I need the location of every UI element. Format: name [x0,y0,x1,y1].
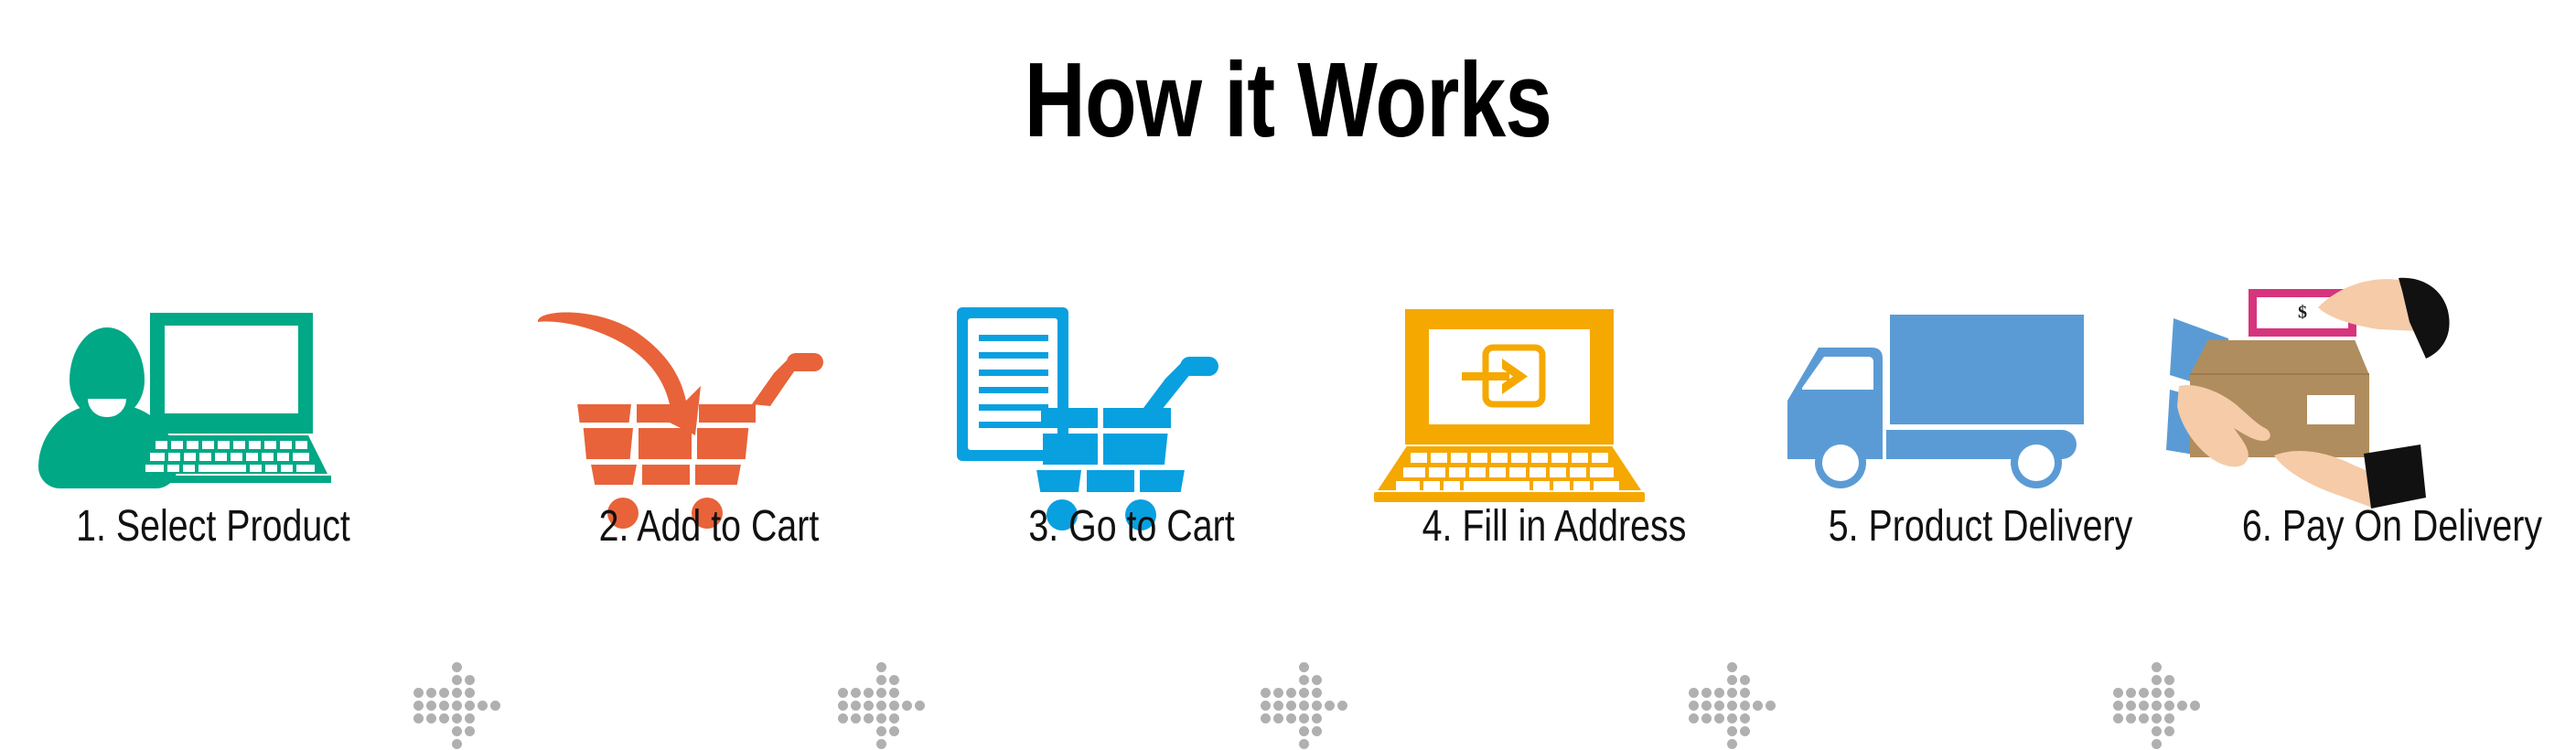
laptop-base-edge [132,476,331,483]
separator-dot [413,688,424,698]
separator-dot [1740,713,1750,723]
separator-dot [452,701,462,711]
step-separator-2-3 [838,662,926,750]
separator-dot [889,701,899,711]
separator-dot [2164,688,2174,698]
separator-dot [851,688,861,698]
steps-row: 1. Select Product [0,302,2576,686]
separator-dot [1701,701,1712,711]
separator-dot [876,726,886,736]
separator-dot [1299,662,1309,672]
separator-dot [1261,713,1271,723]
separator-dot [876,688,886,698]
separator-dot [465,726,475,736]
login-arrow-into-box-icon [1454,340,1564,413]
step-separator-3-4 [1261,662,1348,750]
separator-dot [1312,675,1322,685]
separator-dot [413,713,424,723]
separator-dot [2126,701,2136,711]
separator-dot [1689,688,1699,698]
delivery-truck-icon [1784,302,2177,476]
separator-dot [876,675,886,685]
separator-dot [1701,713,1712,723]
separator-dot [2164,675,2174,685]
separator-dot [1740,701,1750,711]
laptop-login-icon [1358,302,1751,476]
separator-dot [1714,701,1724,711]
separator-dot [1286,701,1296,711]
separator-dot [452,675,462,685]
step-4-fill-in-address[interactable]: 4. Fill in Address [1358,302,1751,686]
separator-dot [889,726,899,736]
separator-dot [2164,726,2174,736]
separator-dot [1714,688,1724,698]
separator-dot [1740,726,1750,736]
separator-dot [2113,713,2123,723]
step-3-label: 3. Go to Cart [971,501,1293,552]
separator-dot [902,701,912,711]
separator-dot [2113,688,2123,698]
separator-dot [1325,701,1335,711]
step-2-add-to-cart[interactable]: 2. Add to Cart [512,302,906,686]
step-4-label: 4. Fill in Address [1393,501,1716,552]
separator-dot [1727,701,1737,711]
separator-dot [876,701,886,711]
separator-dot [851,701,861,711]
separator-dot [1727,713,1737,723]
truck-cargo-box [1890,315,2084,424]
truck-tire-rear-hub [2018,445,2055,481]
separator-dot [1689,713,1699,723]
separator-dot [2126,688,2136,698]
step-1-select-product[interactable]: 1. Select Product [16,302,410,686]
separator-dot [1299,688,1309,698]
laptop-key-row-2 [1403,467,1617,477]
separator-dot [838,688,848,698]
separator-dot [452,713,462,723]
separator-dot [1312,713,1322,723]
truck-tire-front-hub [1822,445,1859,481]
separator-dot [439,701,449,711]
separator-dot [1740,688,1750,698]
separator-dot [1714,713,1724,723]
infographic-canvas: How it Works [0,0,2576,745]
step-separator-4-5 [1689,662,1776,750]
separator-dot [452,662,462,672]
separator-dot [864,701,874,711]
laptop-key-row-1 [156,441,309,449]
separator-dot [439,713,449,723]
separator-dot [876,662,886,672]
separator-dot [426,688,436,698]
separator-dot [838,713,848,723]
separator-dot [864,688,874,698]
separator-dot [889,713,899,723]
separator-dot [876,713,886,723]
separator-dot [2177,701,2187,711]
separator-dot [2152,688,2162,698]
separator-dot [465,675,475,685]
separator-dot [1753,701,1763,711]
separator-dot [2139,701,2149,711]
separator-dot [2164,701,2174,711]
arrow-into-cart-icon [512,302,906,476]
separator-dot [439,688,449,698]
separator-dot [2152,662,2162,672]
laptop-key-row-3 [1396,481,1623,490]
separator-dot [1299,713,1309,723]
step-6-label: 6. Pay On Delivery [2231,501,2554,552]
separator-dot [2152,701,2162,711]
step-separator-5-6 [2113,662,2201,750]
separator-dot [2113,701,2123,711]
separator-dot [1286,713,1296,723]
separator-dot [1273,713,1283,723]
separator-dot [490,701,500,711]
separator-dot [413,701,424,711]
cart-basket [1037,408,1193,479]
separator-dot [1273,688,1283,698]
laptop-key-row-2 [150,453,315,461]
separator-dot [1727,675,1737,685]
separator-dot [1261,701,1271,711]
laptop-screen-display [165,326,298,413]
step-1-label: 1. Select Product [52,501,375,552]
separator-dot [1299,675,1309,685]
step-2-label: 2. Add to Cart [548,501,871,552]
separator-dot [478,701,488,711]
page-title: How it Works [258,42,2319,159]
step-6-pay-on-delivery[interactable]: $ [2195,302,2576,686]
separator-dot [1312,726,1322,736]
document-and-cart-icon [935,302,1328,476]
step-5-product-delivery[interactable]: 5. Product Delivery [1784,302,2177,686]
separator-dot [2152,713,2162,723]
separator-dot [2152,726,2162,736]
separator-dot [915,701,925,711]
separator-dot [2164,713,2174,723]
separator-dot [1312,701,1322,711]
separator-dot [1286,688,1296,698]
step-3-go-to-cart[interactable]: 3. Go to Cart [935,302,1328,686]
separator-dot [2126,713,2136,723]
separator-dot [889,688,899,698]
laptop-key-row-1 [1411,453,1610,463]
separator-dot [864,713,874,723]
separator-dot [2190,701,2200,711]
separator-dot [2139,713,2149,723]
separator-dot [452,726,462,736]
separator-dot [1727,726,1737,736]
step-separator-1-2 [413,662,501,750]
separator-dot [465,713,475,723]
separator-dot [426,713,436,723]
separator-dot [1299,701,1309,711]
separator-dot [1727,662,1737,672]
separator-dot [2152,675,2162,685]
laptop-key-row-3 [145,465,319,472]
separator-dot [851,713,861,723]
separator-dot [1766,701,1776,711]
separator-dot [2139,688,2149,698]
separator-dot [426,701,436,711]
separator-dot [1299,726,1309,736]
step-5-label: 5. Product Delivery [1819,501,2142,552]
separator-dot [1740,675,1750,685]
package-box-seam [2190,373,2369,375]
separator-dot [889,675,899,685]
person-at-laptop-icon [16,302,410,476]
separator-dot [838,701,848,711]
cart-basket [573,404,785,474]
separator-dot [452,688,462,698]
separator-dot [1727,688,1737,698]
package-box-lid [2190,340,2369,375]
separator-dot [1689,701,1699,711]
separator-dot [465,688,475,698]
separator-dot [1273,701,1283,711]
separator-dot [465,701,475,711]
separator-dot [1312,688,1322,698]
separator-dot [1337,701,1347,711]
separator-dot [1261,688,1271,698]
separator-dot [1701,688,1712,698]
cash-on-delivery-icon: $ [2195,302,2576,476]
